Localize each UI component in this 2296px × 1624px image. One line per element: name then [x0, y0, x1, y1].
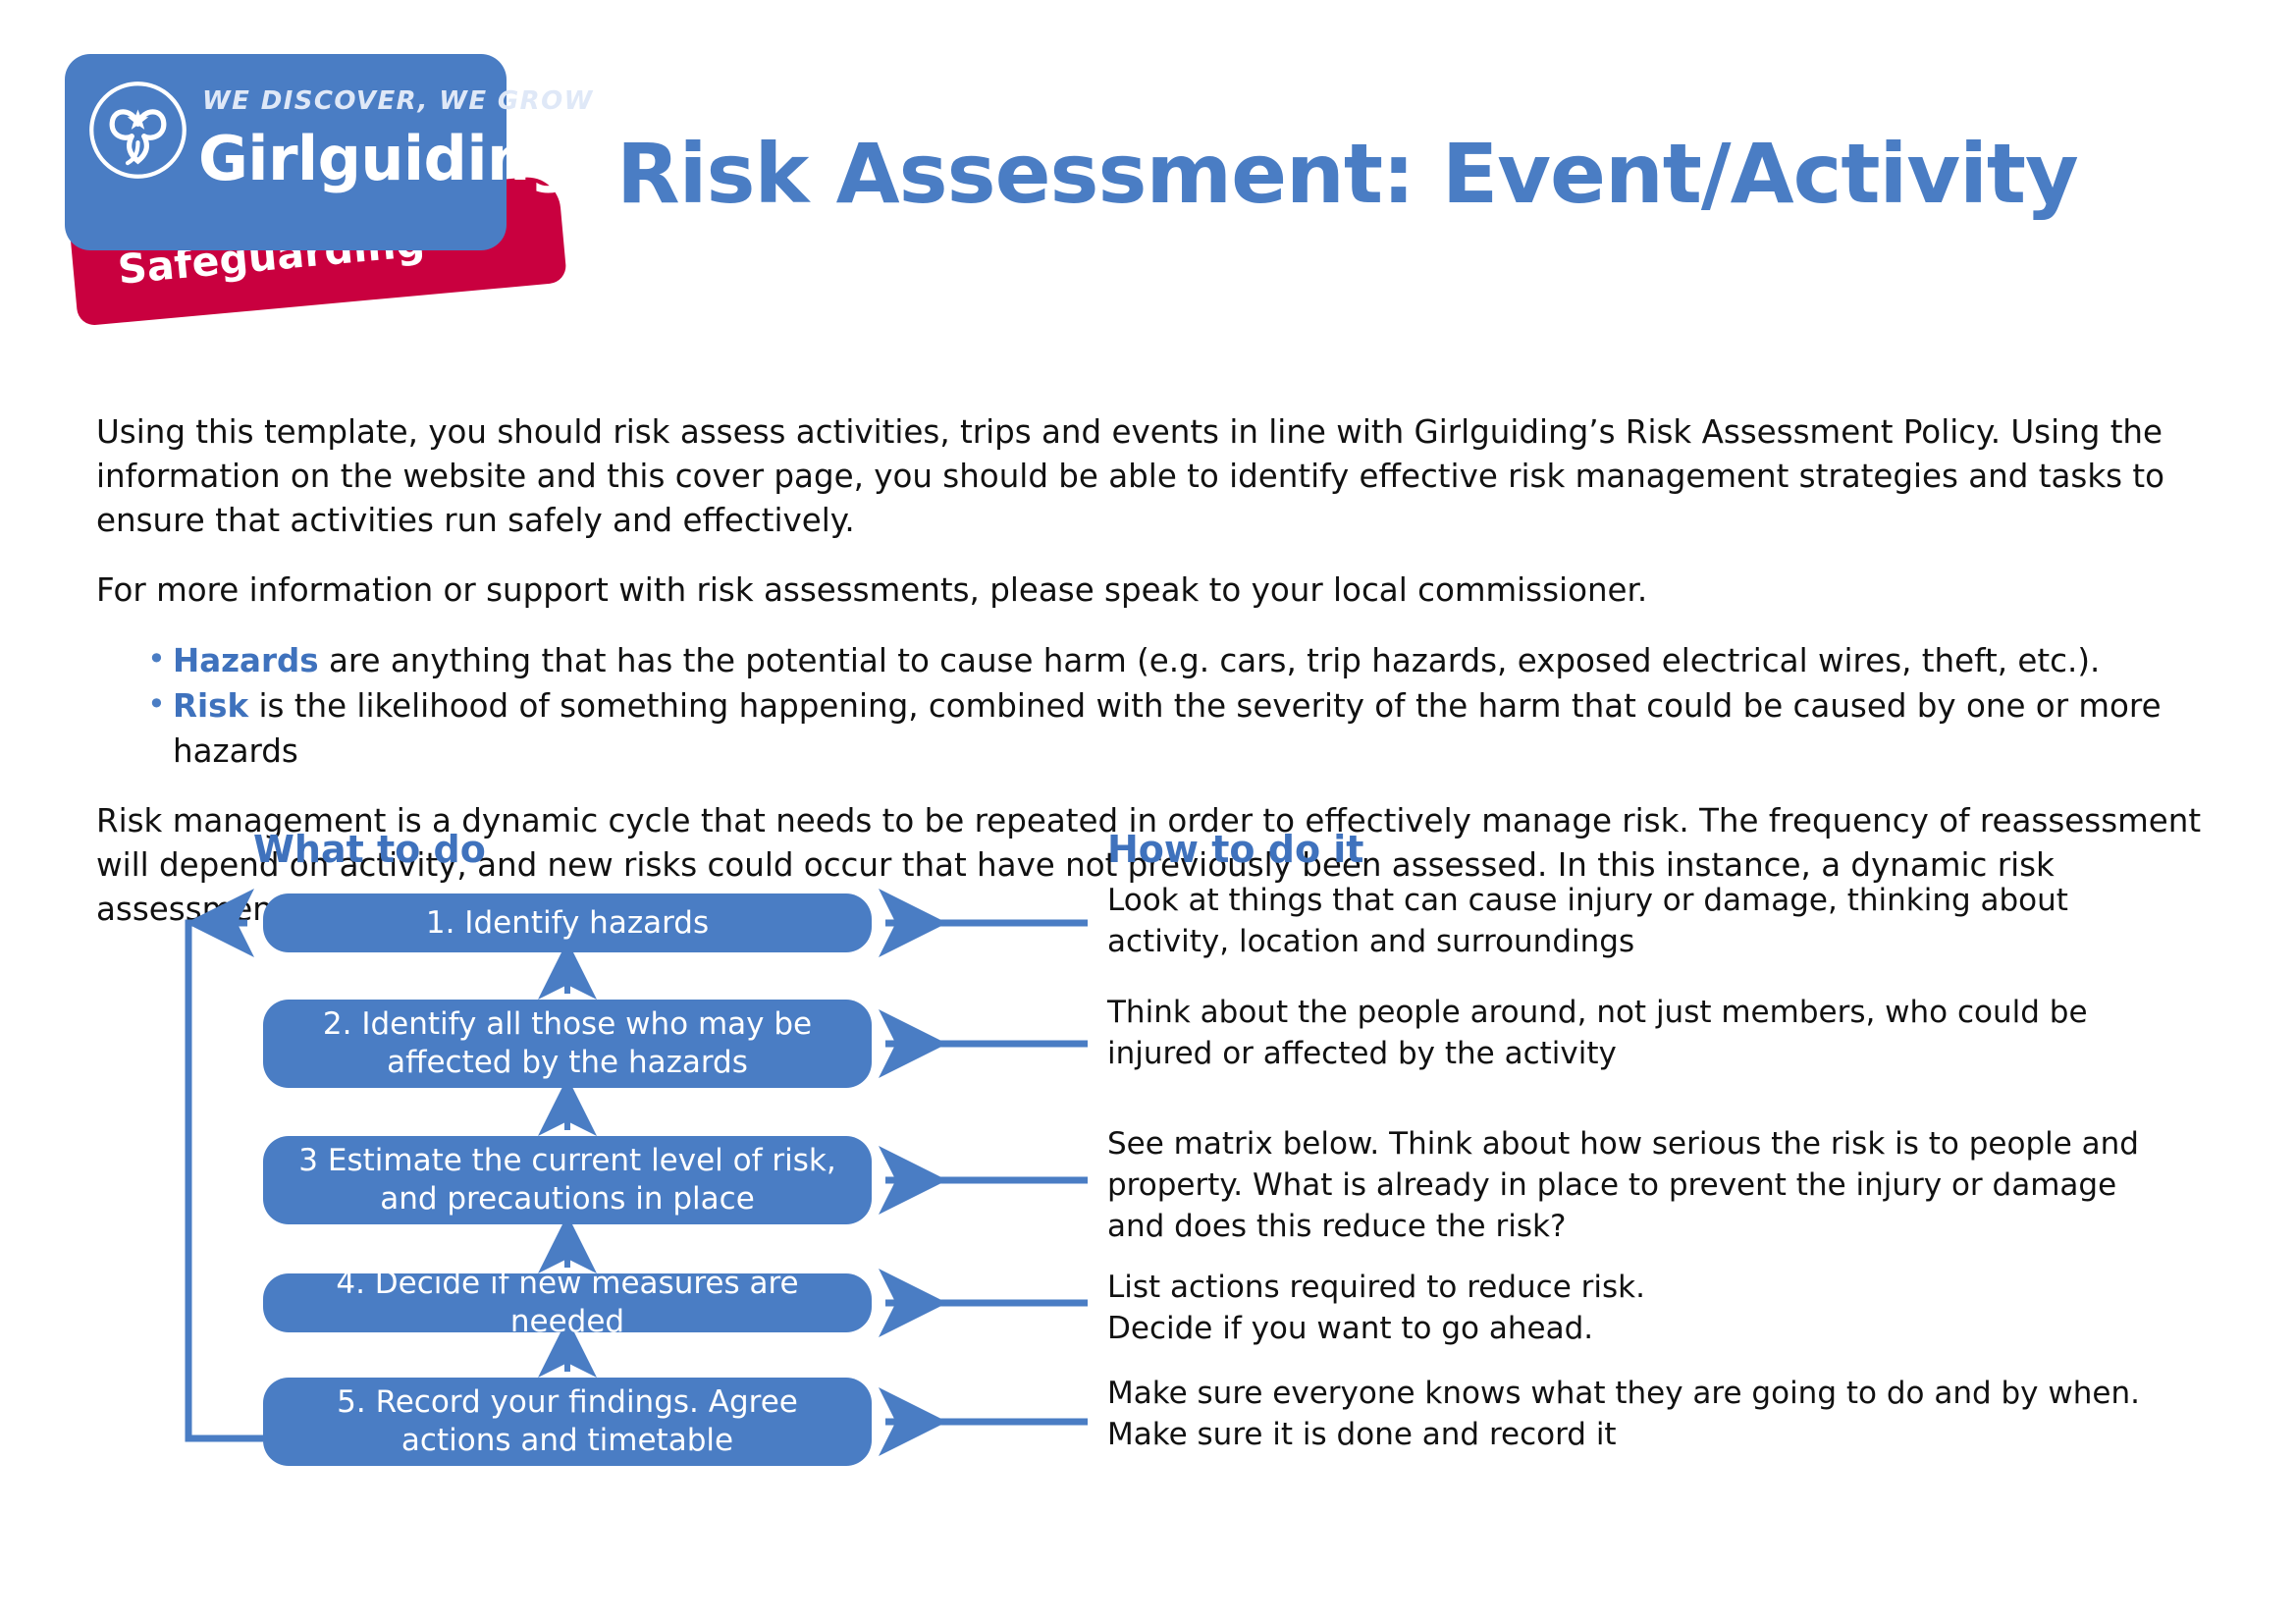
- flow-step-5[interactable]: 5. Record your findings. Agree actions a…: [263, 1378, 872, 1466]
- brand-tagline: WE DISCOVER, WE GROW: [202, 86, 594, 116]
- bullet-keyword-risk: Risk: [173, 687, 248, 725]
- page-header: Safeguarding WE DISCOVER, WE GROW Girlgu…: [0, 0, 2296, 373]
- risk-cycle-diagram: What to do How to do it 1. Identify haza…: [0, 805, 2296, 1532]
- flow-step-3[interactable]: 3 Estimate the current level of risk, an…: [263, 1136, 872, 1224]
- trefoil-icon: [86, 79, 189, 182]
- column-heading-how-to-do-it: How to do it: [1107, 828, 1363, 871]
- bullet-keyword-hazards: Hazards: [173, 642, 319, 679]
- definitions-list: Hazards are anything that has the potent…: [96, 638, 2207, 774]
- flow-description-2: Think about the people around, not just …: [1107, 992, 2148, 1074]
- flow-step-4[interactable]: 4. Decide if new measures are needed: [263, 1273, 872, 1332]
- brand-name: Girlguiding: [198, 123, 572, 194]
- logo-card: WE DISCOVER, WE GROW Girlguiding: [65, 54, 507, 250]
- flow-description-3: See matrix below. Think about how seriou…: [1107, 1123, 2148, 1247]
- list-item: Hazards are anything that has the potent…: [96, 638, 2207, 683]
- flow-description-4: List actions required to reduce risk.Dec…: [1107, 1267, 2148, 1349]
- intro-paragraph-2: For more information or support with ris…: [96, 568, 2207, 613]
- flow-description-1: Look at things that can cause injury or …: [1107, 880, 2148, 962]
- flow-description-5: Make sure everyone knows what they are g…: [1107, 1373, 2148, 1455]
- bullet-text-risk: is the likelihood of something happening…: [173, 687, 2162, 770]
- girlguiding-logo: Safeguarding WE DISCOVER, WE GROW Girlgu…: [77, 54, 587, 339]
- bullet-text-hazards: are anything that has the potential to c…: [319, 642, 2101, 679]
- flow-step-1[interactable]: 1. Identify hazards: [263, 893, 872, 952]
- intro-paragraph-1: Using this template, you should risk ass…: [96, 410, 2207, 543]
- list-item: Risk is the likelihood of something happ…: [96, 683, 2207, 774]
- flow-step-2[interactable]: 2. Identify all those who may be affecte…: [263, 1000, 872, 1088]
- page-title: Risk Assessment: Event/Activity: [616, 126, 2078, 222]
- column-heading-what-to-do: What to do: [253, 828, 486, 871]
